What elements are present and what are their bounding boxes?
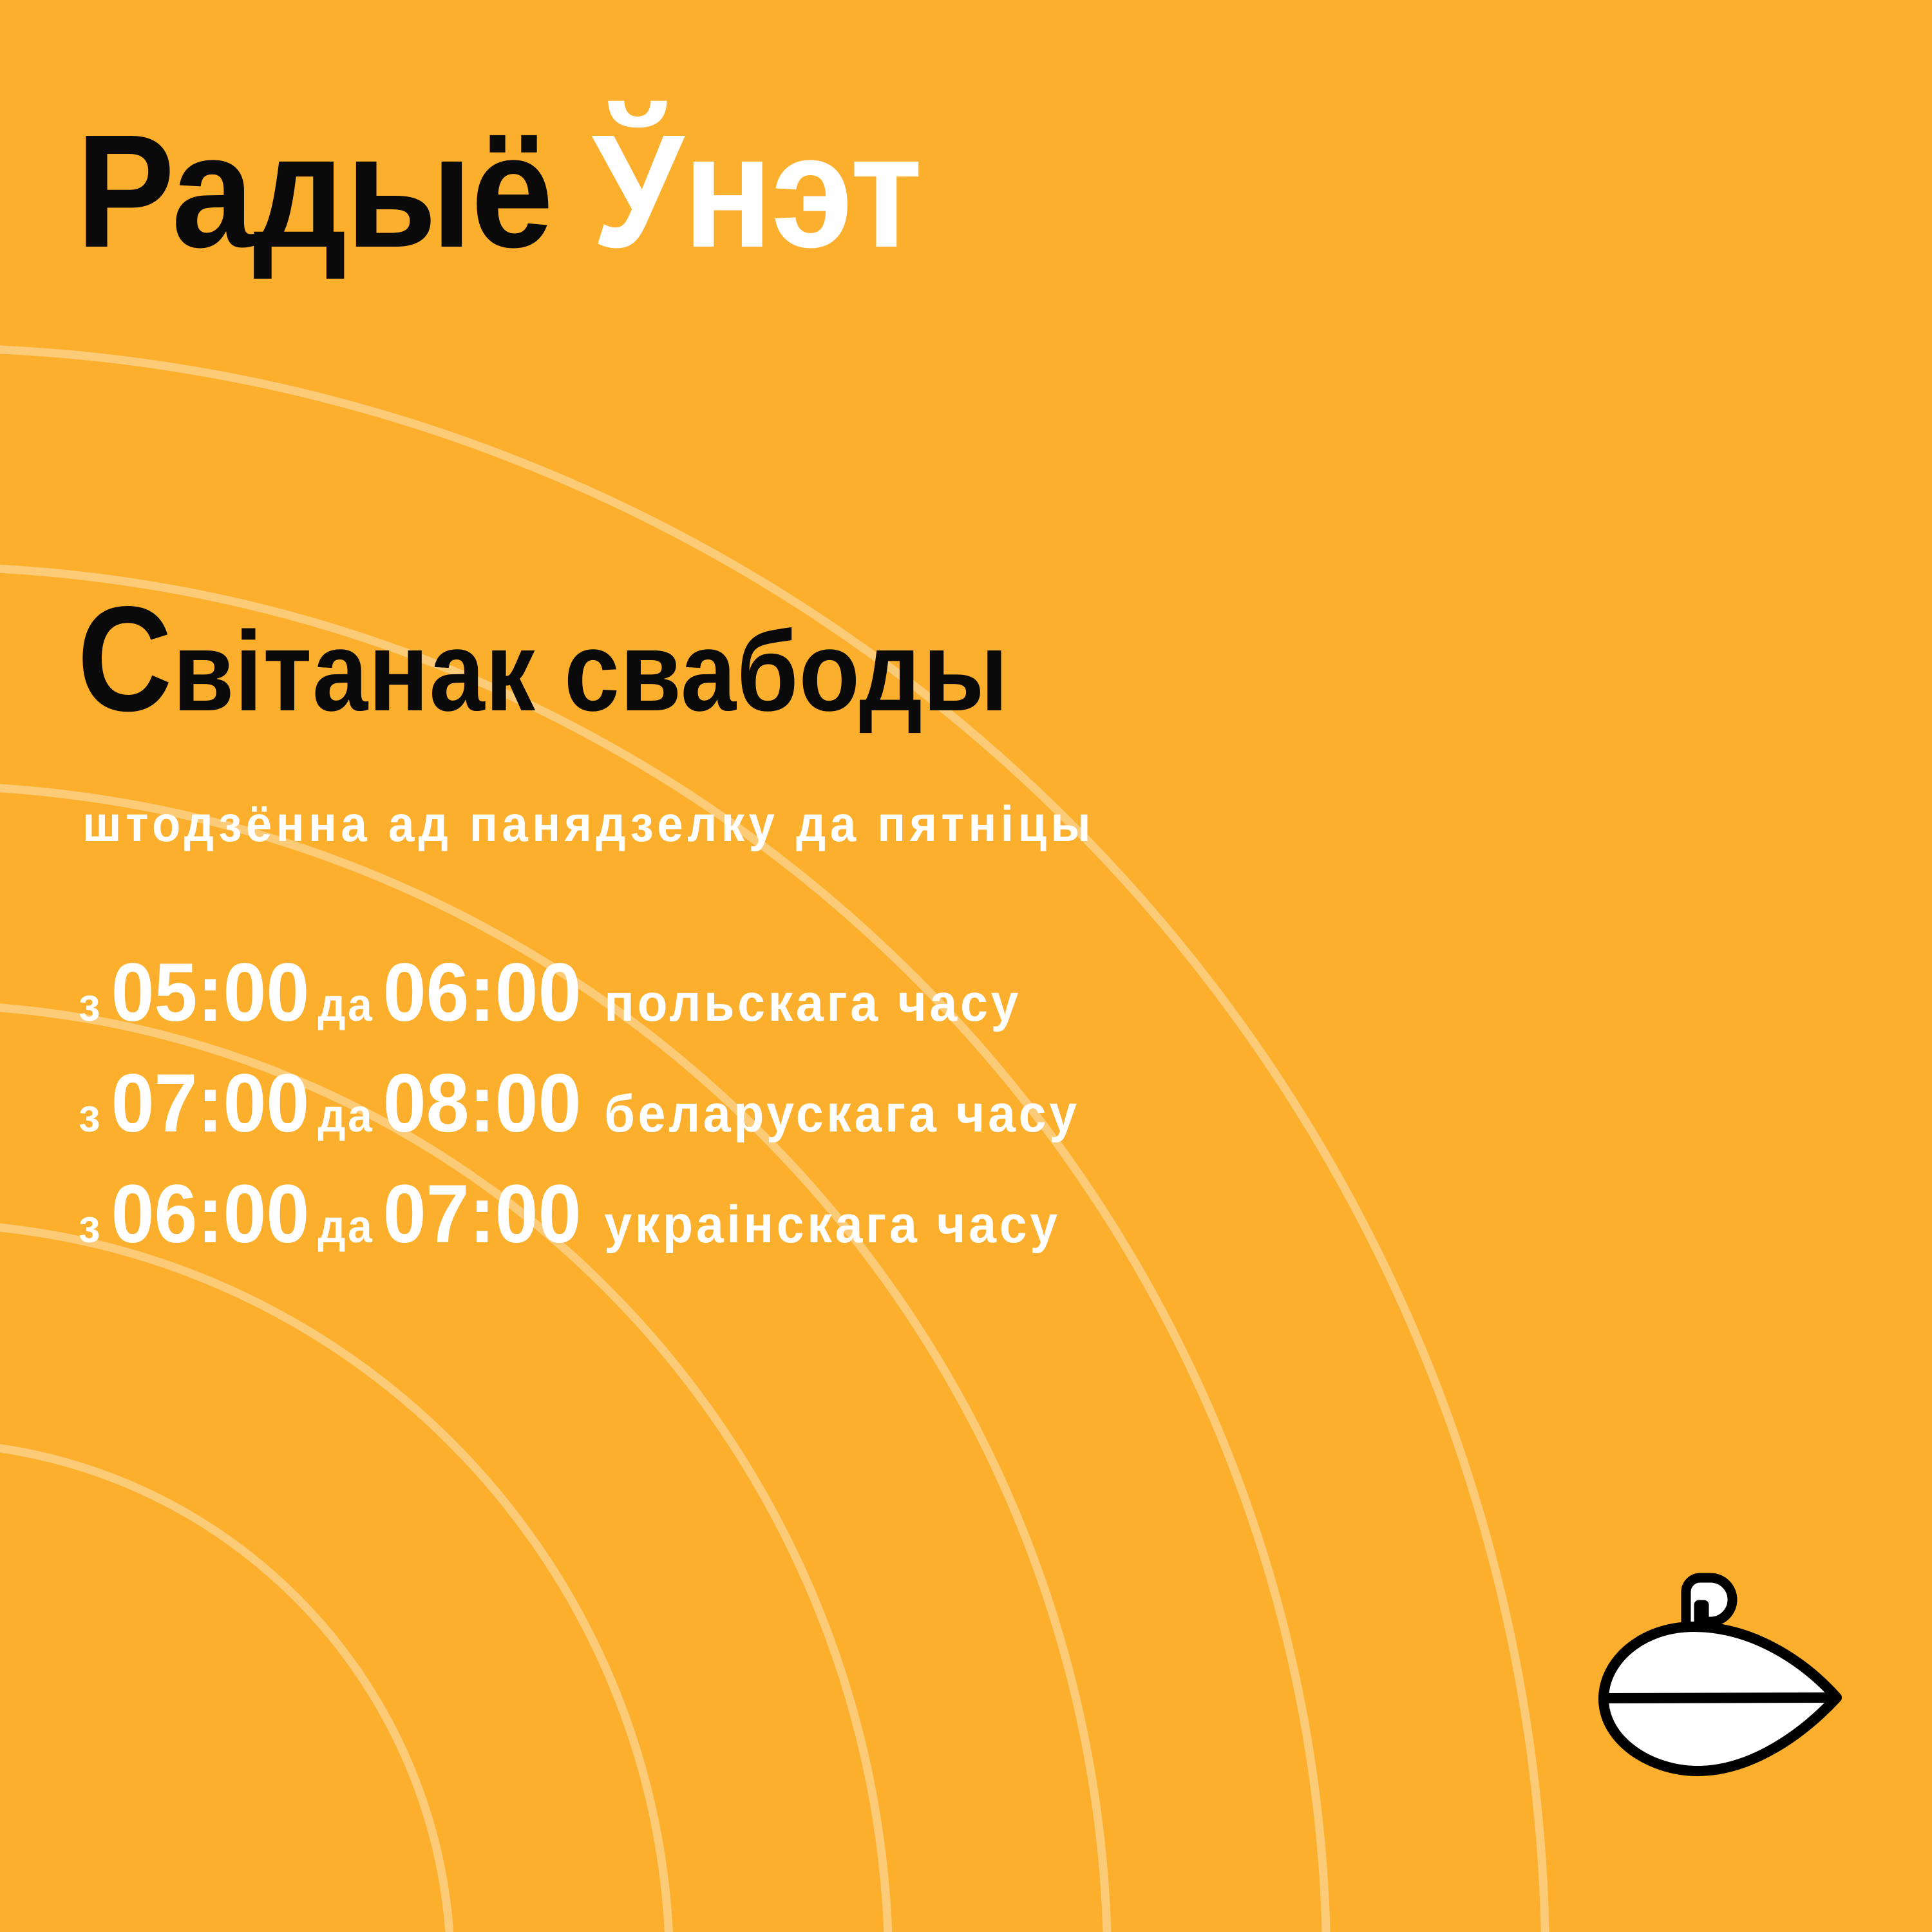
to-label: да [317,980,374,1031]
page-title: Світанак свабоды [77,585,1009,734]
unet-teardrop-flag-logo-icon [1591,1565,1861,1816]
end-time: 07:00 [375,1168,590,1260]
timezone-label: польскага часу [590,974,1021,1032]
schedule-row: з07:00да08:00беларускага часу [79,1063,1713,1173]
end-time: 08:00 [375,1057,590,1150]
timezone-label: украінскага часу [590,1195,1061,1254]
start-time: 07:00 [102,1057,317,1150]
show-title-rest: вітанак свабоды [173,609,1009,735]
from-label: з [79,980,102,1031]
end-time: 06:00 [375,947,590,1039]
station-brand: Радыё Ўнэт [76,111,922,272]
from-label: з [79,1090,102,1142]
to-label: да [317,1090,374,1142]
schedule-row: з05:00да06:00польскага часу [79,952,1713,1063]
to-label: да [317,1201,374,1253]
schedule-row: з06:00да07:00украінскага часу [79,1173,1713,1284]
brand-word-light: Ўнэт [592,101,922,281]
show-title-initial: С [77,576,173,743]
start-time: 05:00 [102,947,317,1039]
poster-canvas: Радыё Ўнэт Світанак свабоды штодзённа ад… [0,0,1932,1932]
from-label: з [79,1201,102,1253]
schedule-list: з05:00да06:00польскага часу з07:00да08:0… [79,952,1817,1284]
brand-word-dark: Радыё [76,101,552,281]
start-time: 06:00 [102,1168,317,1260]
timezone-label: беларускага часу [590,1084,1080,1143]
schedule-heading: штодзённа ад панядзелку да пятніцы [82,799,1095,849]
